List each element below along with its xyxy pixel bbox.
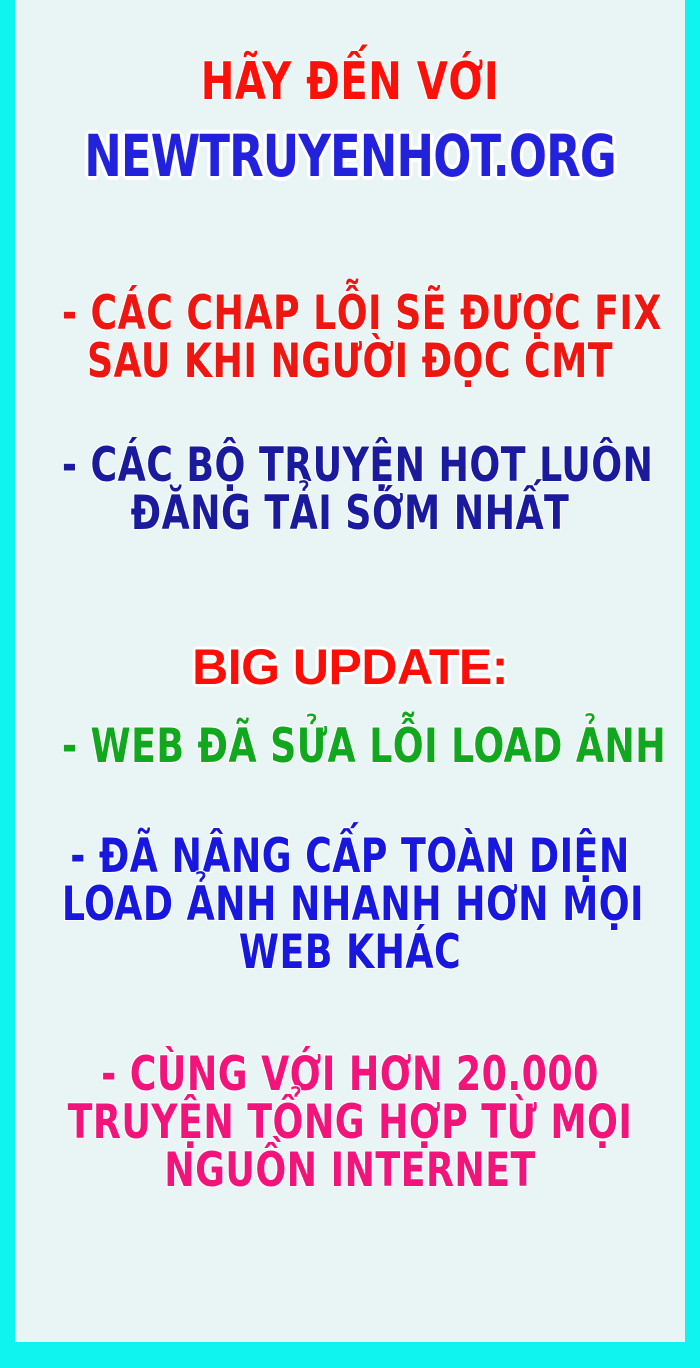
library-size-update: - CÙNG VỚI HƠN 20.000 TRUYỆN TỔNG HỢP TỪ… [62,1051,638,1195]
image-load-fix-update-line-1: - WEB ĐÃ SỬA LỖI LOAD ẢNH [62,723,638,771]
library-size-update-line-1: - CÙNG VỚI HƠN 20.000 [62,1051,638,1099]
library-size-update-line-3: NGUỒN INTERNET [62,1147,638,1195]
right-edge-strip [685,0,700,1368]
full-upgrade-update: - ĐÃ NÂNG CẤP TOÀN DIỆN LOAD ẢNH NHANH H… [62,833,638,977]
library-size-update-line-2: TRUYỆN TỔNG HỢP TỪ MỌI [62,1099,638,1147]
headline-site-name[interactable]: NEWTRUYENHOT.ORG [62,127,638,186]
full-upgrade-update-line-3: WEB KHÁC [62,929,638,977]
hot-series-notice-line-1: - CÁC BỘ TRUYỆN HOT LUÔN [62,442,638,490]
bottom-edge-band [0,1342,700,1368]
banner-content: HÃY ĐẾN VỚI NEWTRUYENHOT.ORG - CÁC CHAP … [15,0,685,1342]
chapter-fix-notice-line-1: - CÁC CHAP LỖI SẼ ĐƯỢC FIX [62,290,638,338]
promo-banner: HÃY ĐẾN VỚI NEWTRUYENHOT.ORG - CÁC CHAP … [0,0,700,1368]
full-upgrade-update-line-2: LOAD ẢNH NHANH HƠN MỌI [62,881,638,929]
chapter-fix-notice: - CÁC CHAP LỖI SẼ ĐƯỢC FIX SAU KHI NGƯỜI… [62,290,638,386]
headline-invitation: HÃY ĐẾN VỚI [62,56,638,109]
hot-series-notice: - CÁC BỘ TRUYỆN HOT LUÔN ĐĂNG TẢI SỚM NH… [62,442,638,538]
image-load-fix-update: - WEB ĐÃ SỬA LỖI LOAD ẢNH [62,723,638,771]
big-update-heading: BIG UPDATE: [15,642,685,693]
full-upgrade-update-line-1: - ĐÃ NÂNG CẤP TOÀN DIỆN [62,833,638,881]
chapter-fix-notice-line-2: SAU KHI NGƯỜI ĐỌC CMT [62,338,638,386]
hot-series-notice-line-2: ĐĂNG TẢI SỚM NHẤT [62,490,638,538]
left-edge-strip [0,0,15,1368]
